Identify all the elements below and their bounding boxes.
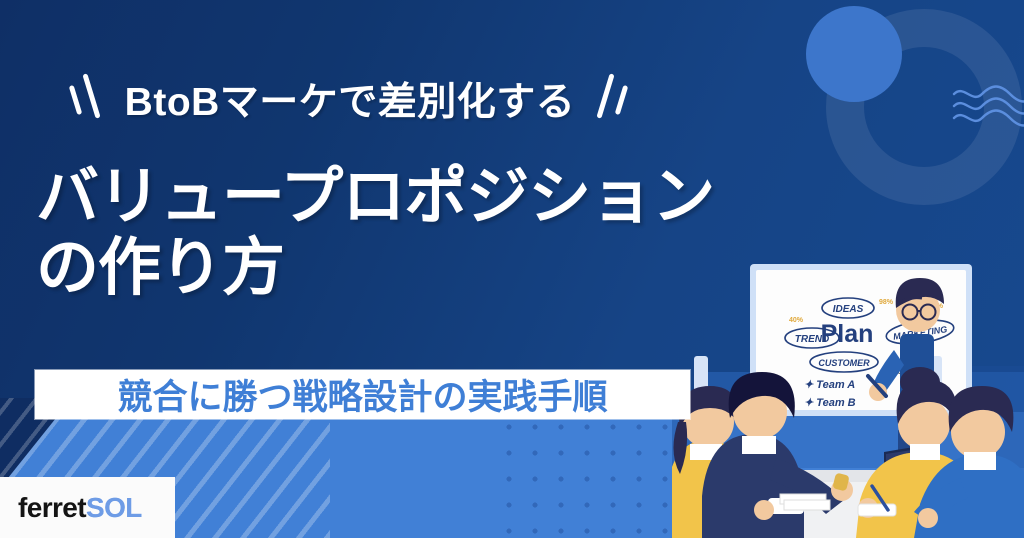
svg-text:40%: 40%	[789, 317, 804, 324]
banner-canvas: TREND 40% IDEAS 98% MARKETING 70% CUSTOM…	[0, 0, 1024, 538]
circle-decoration	[806, 6, 902, 102]
svg-text:✦ Team A: ✦ Team A	[804, 379, 855, 391]
title-line-1: バリュープロポジション	[36, 162, 736, 233]
svg-text:IDEAS: IDEAS	[833, 304, 864, 315]
logo-primary: ferret	[18, 492, 86, 523]
wave-lines-decoration	[952, 84, 1024, 128]
svg-text:CUSTOMER: CUSTOMER	[818, 358, 870, 368]
svg-text:98%: 98%	[879, 299, 894, 306]
kicker-text: BtoBマーケで差別化する	[125, 71, 576, 127]
svg-text:✦ Team B: ✦ Team B	[804, 397, 856, 409]
slash-right-icon	[591, 69, 633, 129]
svg-text:Plan: Plan	[821, 320, 874, 348]
slash-left-icon	[67, 69, 109, 129]
ring-decoration	[826, 9, 1022, 205]
logo[interactable]: ferretSOL	[0, 477, 175, 538]
logo-secondary: SOL	[86, 492, 142, 523]
page-title: バリュープロポジション の作り方	[36, 162, 736, 303]
tagline-band: 競合に勝つ戦略設計の実践手順	[35, 370, 690, 419]
title-line-2: の作り方	[36, 233, 736, 304]
kicker-row: BtoBマーケで差別化する	[0, 66, 700, 132]
tagline-text: 競合に勝つ戦略設計の実践手順	[117, 369, 607, 420]
logo-wordmark: ferretSOL	[18, 494, 142, 522]
